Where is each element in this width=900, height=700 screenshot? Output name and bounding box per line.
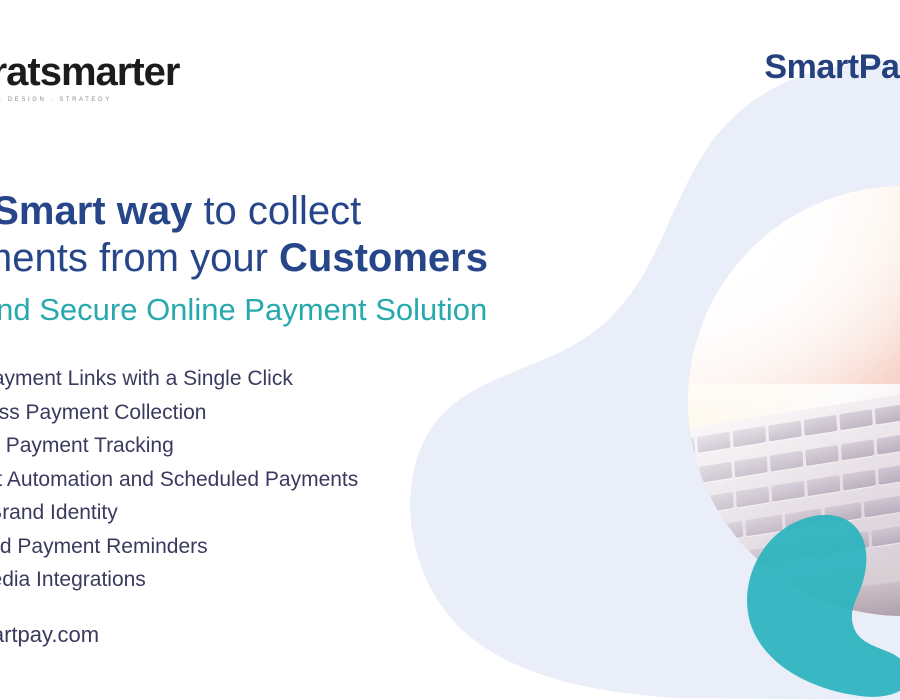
list-item: Real-time Payment Tracking [0, 429, 550, 463]
headline-line-1-bold: The Smart way [0, 189, 192, 233]
photo-white-fade-overlay [688, 186, 900, 616]
feature-list: Create Payment Links with a Single Click… [0, 362, 550, 597]
marketing-banner: stratsmarter BRAND . DESIGN . STRATEGY S… [0, 0, 900, 700]
list-item: Custom Brand Identity [0, 496, 550, 530]
company-logo: stratsmarter BRAND . DESIGN . STRATEGY [0, 52, 68, 103]
headline: The Smart way to collect Payments from y… [0, 188, 550, 282]
list-item: Contactless Payment Collection [0, 396, 550, 430]
list-item: Automated Payment Reminders [0, 530, 550, 564]
headline-line-2-bold: Customers [279, 236, 488, 280]
list-item: Recurrent Automation and Scheduled Payme… [0, 463, 550, 497]
headline-line-2: Payments from your Customers [0, 235, 550, 282]
logo-wordmark: stratsmarter [0, 52, 68, 92]
website-url: www.smartpay.com [0, 622, 99, 648]
subheadline: Fast and Secure Online Payment Solution [0, 292, 550, 328]
headline-line-2-rest: Payments from your [0, 236, 279, 280]
brand-title: SmartPay [764, 48, 900, 87]
headline-line-1-rest: to collect [192, 189, 361, 233]
photo-content [688, 186, 900, 616]
list-item: Social Media Integrations [0, 563, 550, 597]
logo-tagline: BRAND . DESIGN . STRATEGY [0, 97, 68, 103]
payment-photo-circle [688, 186, 900, 616]
headline-line-1: The Smart way to collect [0, 188, 550, 235]
list-item: Create Payment Links with a Single Click [0, 362, 550, 396]
